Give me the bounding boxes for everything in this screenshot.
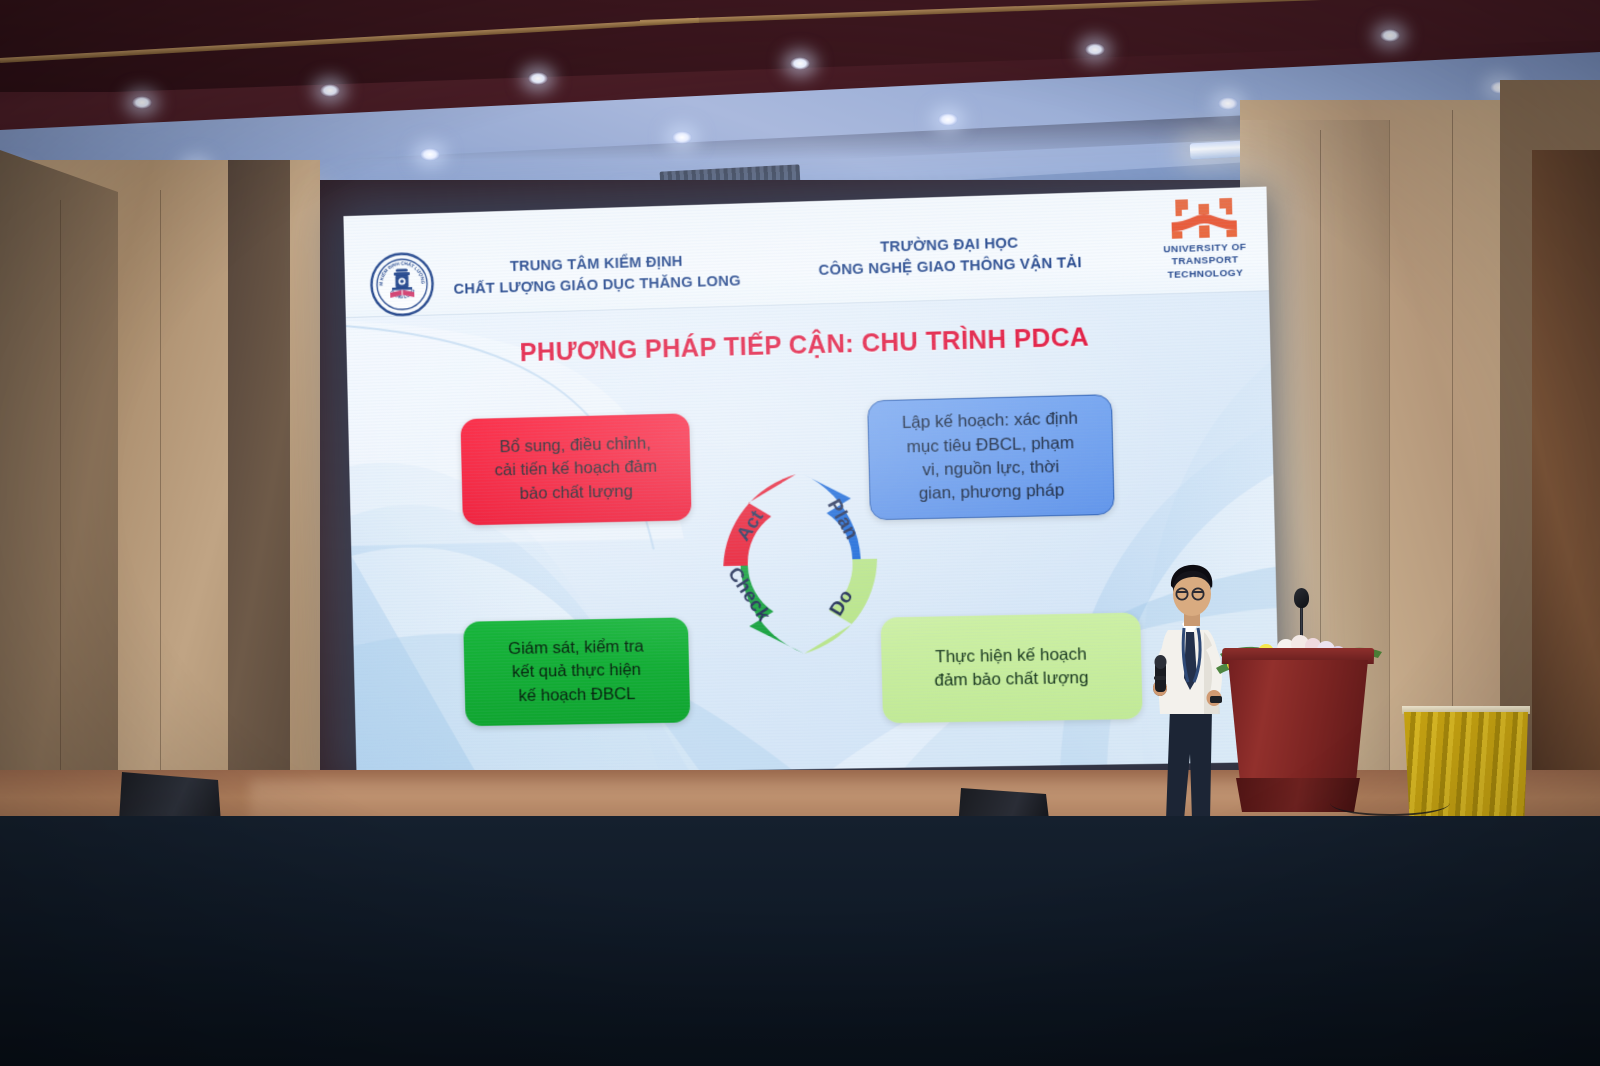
wooden-podium bbox=[1228, 660, 1368, 782]
ceiling-downlight bbox=[132, 96, 152, 109]
utt-line3: TECHNOLOGY bbox=[1148, 266, 1264, 282]
thang-long-accreditation-seal-icon: TRUNG TÂM KIỂM ĐỊNH CHẤT LƯỢNG GIÁO DỤC … bbox=[369, 251, 435, 317]
pdca-wheel-graphic bbox=[694, 461, 904, 668]
ceiling-downlight bbox=[672, 131, 692, 144]
utt-bridge-logo-icon bbox=[1167, 196, 1242, 241]
ceiling-downlight bbox=[790, 57, 810, 70]
left-wall-dark-panel bbox=[0, 150, 118, 870]
ceiling-downlight bbox=[420, 148, 440, 161]
utt-logo: UNIVERSITY OF TRANSPORT TECHNOLOGY bbox=[1146, 195, 1264, 282]
act-line2: cải tiến kế hoạch đảm bbox=[494, 456, 657, 484]
auditorium-scene: TRUNG TÂM KIỂM ĐỊNH CHẤT LƯỢNG GIÁO DỤC … bbox=[0, 0, 1600, 1066]
gold-skirted-table bbox=[1404, 712, 1528, 832]
ceiling-downlight bbox=[528, 72, 548, 85]
ceiling-downlight bbox=[1085, 43, 1105, 56]
act-description-box: Bổ sung, điều chỉnh, cải tiến kế hoạch đ… bbox=[460, 413, 691, 525]
right-door-panel bbox=[1532, 150, 1600, 850]
plan-description-box: Lập kế hoạch: xác định mục tiêu ĐBCL, ph… bbox=[867, 394, 1115, 520]
do-line2: đảm bảo chất lượng bbox=[934, 667, 1089, 694]
act-line3: bảo chất lượng bbox=[495, 479, 658, 506]
wall-seam bbox=[160, 190, 161, 860]
check-line1: Giám sát, kiểm tra bbox=[508, 635, 644, 661]
ceiling-downlight bbox=[1218, 97, 1238, 110]
plan-line4: gian, phương pháp bbox=[903, 479, 1080, 507]
left-wall-column bbox=[228, 160, 290, 850]
org-left-name: TRUNG TÂM KIỂM ĐỊNH CHẤT LƯỢNG GIÁO DỤC … bbox=[445, 250, 750, 301]
pdca-cycle-wheel: Plan Do Check Act bbox=[694, 461, 904, 668]
pdca-segment-do bbox=[802, 559, 879, 654]
audience-area: 19 20 26 27 61 62 bbox=[0, 816, 1600, 1066]
ceiling-downlight bbox=[938, 113, 958, 126]
slide-title: PHƯƠNG PHÁP TIẾP CẬN: CHU TRÌNH PDCA bbox=[346, 318, 1270, 373]
pdca-segment-act bbox=[721, 474, 798, 566]
stage-cable bbox=[1330, 790, 1450, 816]
check-description-box: Giám sát, kiểm tra kết quả thực hiện kế … bbox=[463, 617, 690, 726]
ceiling-downlight bbox=[320, 84, 340, 97]
microphone-head-icon bbox=[1294, 588, 1309, 608]
wall-seam bbox=[60, 200, 61, 860]
do-description-box: Thực hiện kế hoạch đảm bảo chất lượng bbox=[881, 613, 1143, 724]
check-line3: kế hoạch ĐBCL bbox=[509, 683, 645, 709]
check-line2: kết quả thực hiện bbox=[509, 659, 645, 685]
utt-logo-text: UNIVERSITY OF TRANSPORT TECHNOLOGY bbox=[1147, 241, 1263, 282]
org-university-name: TRƯỜNG ĐẠI HỌC CÔNG NGHỆ GIAO THÔNG VẬN … bbox=[779, 230, 1121, 283]
do-line1: Thực hiện kế hoạch bbox=[934, 643, 1089, 670]
ceiling-downlight bbox=[1380, 29, 1400, 42]
